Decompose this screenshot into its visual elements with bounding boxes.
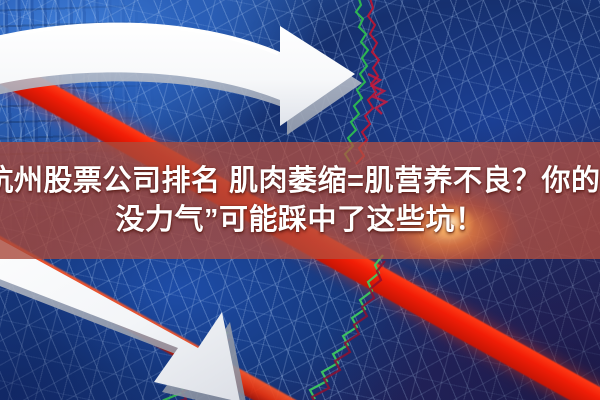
down-right-arrow xyxy=(0,250,300,400)
green-trend-line-lower xyxy=(310,255,383,399)
banner-image: 杭州股票公司排名 肌肉萎缩=肌营养不良？你的“ 没力气”可能踩中了这些坑！ xyxy=(0,0,600,400)
title-line-2: 没力气”可能踩中了这些坑！ xyxy=(115,201,484,240)
arrow-face xyxy=(0,23,355,126)
title-container: 杭州股票公司排名 肌肉萎缩=肌营养不良？你的“ 没力气”可能踩中了这些坑！ xyxy=(0,142,600,259)
title-line-1: 杭州股票公司排名 肌肉萎缩=肌营养不良？你的“ xyxy=(0,162,600,201)
dark-red-trend-line-lower xyxy=(312,261,385,400)
